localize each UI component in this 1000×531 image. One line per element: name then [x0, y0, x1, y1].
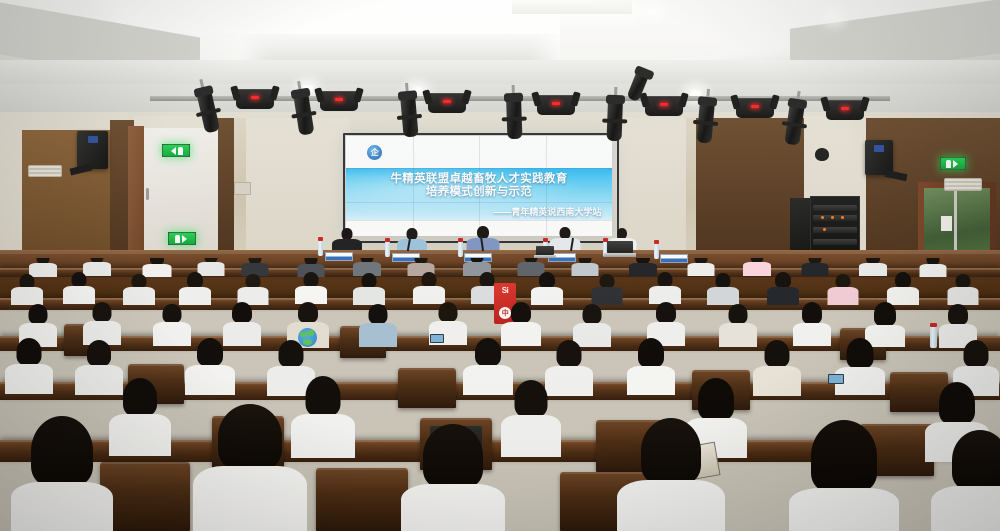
audience-hair [641, 418, 701, 484]
air-vent-right [944, 178, 982, 191]
logo-glyph: 企 [371, 149, 379, 157]
audience-torso [123, 287, 155, 305]
audience-hair [17, 338, 42, 365]
stage-spotlight [607, 99, 623, 141]
bottle-cap [930, 323, 937, 327]
panelist-laptop[interactable] [604, 241, 636, 257]
audience-hair [557, 340, 582, 367]
exit-person-icon [175, 235, 180, 243]
audience-member [706, 273, 740, 302]
audience-hair [874, 302, 896, 326]
laptop-keyboard [604, 253, 636, 257]
screen-panel-seam [413, 136, 414, 236]
audience-member [222, 302, 262, 342]
audience-hair [729, 304, 748, 324]
spotlight-hood [290, 88, 310, 100]
stage-light-fixture [236, 89, 274, 109]
rack-unit [813, 215, 857, 221]
audience-torso [617, 480, 725, 531]
ceiling-downlight [828, 12, 839, 19]
stage-light-fixture [736, 98, 774, 118]
exit-person-icon [178, 147, 183, 155]
audience-hair [304, 272, 319, 287]
stage-light-fixture [320, 91, 358, 111]
audience-torso [401, 484, 505, 531]
spotlight-hood [698, 96, 718, 107]
spotlight-hood [504, 93, 523, 103]
ceiling-beam [0, 60, 1000, 84]
audience-member [570, 258, 599, 274]
spotlight-hood [787, 98, 807, 110]
audience-hair [895, 272, 911, 288]
speaker-badge-icon [88, 136, 98, 143]
audience-hair [811, 420, 877, 492]
air-vent-left [28, 165, 62, 177]
exit-person-icon [946, 160, 951, 168]
audience-member [4, 338, 54, 390]
audience-hair [306, 376, 341, 416]
audience-member [412, 272, 446, 302]
spotlight-hood [398, 90, 418, 101]
audience-hair [163, 304, 182, 323]
audience-member [122, 274, 156, 302]
audience-member [62, 272, 96, 302]
audience-hair [955, 274, 970, 288]
ceiling-downlight [648, 6, 659, 13]
laptop-screen [607, 241, 633, 253]
fixture-indicator-led [251, 96, 259, 99]
audience-torso [859, 263, 887, 276]
audience-member-foreground [400, 424, 506, 531]
audience-torso [5, 364, 53, 394]
rack-status-led [841, 216, 844, 219]
audience-member-foreground [192, 404, 308, 531]
audience-hair [698, 378, 734, 420]
smartphone[interactable] [430, 334, 444, 343]
water-bottle[interactable] [385, 241, 390, 257]
audience-hair [656, 302, 676, 323]
audience-member [178, 272, 212, 302]
bottle-cap [458, 238, 463, 242]
audience-member [858, 258, 888, 274]
audience-hair [245, 274, 260, 288]
audience-hair [423, 424, 483, 488]
audience-torso [789, 488, 899, 531]
audience-torso [109, 414, 171, 456]
screen-panel-seam [479, 136, 480, 236]
stage-spotlight [506, 97, 522, 139]
audience-hair [835, 274, 850, 288]
audience-hair [802, 302, 822, 324]
water-bottle[interactable] [930, 326, 937, 348]
fixture-indicator-led [443, 100, 451, 103]
audience-hair [87, 340, 111, 366]
audience-hair [539, 272, 555, 288]
audience-hair [422, 272, 437, 287]
audience-member [800, 258, 829, 274]
wall-control-plate[interactable] [234, 182, 251, 195]
stage-light-fixture [428, 93, 466, 113]
audience-member [572, 304, 612, 342]
audience-hair [29, 304, 48, 324]
fixture-indicator-led [660, 103, 668, 106]
audience-torso [707, 287, 739, 305]
audience-hair [599, 274, 614, 288]
audience-hair [511, 302, 531, 323]
audience-member [626, 338, 676, 392]
audience-member-foreground [788, 420, 900, 531]
rack-unit [813, 205, 857, 211]
screen-panel-seam [346, 168, 612, 169]
audience-member [152, 304, 192, 342]
audience-member [792, 302, 832, 342]
globe-landmass [307, 330, 314, 336]
spotlight-yoke [602, 119, 627, 124]
smartphone[interactable] [828, 374, 844, 384]
side-laptop[interactable] [534, 246, 556, 258]
fixture-indicator-led [751, 105, 759, 108]
audience-chair [398, 368, 456, 408]
audience-hair [232, 302, 252, 323]
exit-sign-above-door-left [162, 144, 190, 157]
screen-panel-seam [346, 202, 612, 203]
audience-member [10, 274, 44, 302]
conference-hall-photo: 企 牛精英联盟卓越畜牧人才实践教育 培养模式创新与示范 ——青年精英说西南大学站 [0, 0, 1000, 531]
audience-hair [658, 272, 673, 287]
water-bottle[interactable] [458, 241, 463, 257]
audience-torso [591, 287, 622, 305]
red-bag-text: Si [502, 286, 509, 295]
audience-torso [753, 366, 801, 396]
audience-member [826, 274, 859, 302]
audience-member [82, 302, 122, 342]
exit-arrow-icon [182, 235, 187, 243]
audience-hair [187, 272, 203, 288]
audience-member [500, 302, 542, 342]
rack-status-led [821, 216, 824, 219]
stage-light-fixture [645, 96, 683, 116]
audience-area: Si 中 [0, 258, 1000, 531]
audience-torso [185, 365, 235, 395]
audience-member [766, 272, 800, 302]
glass-door-notice [941, 216, 952, 231]
spotlight-hood [606, 95, 625, 105]
audience-hair [964, 340, 989, 367]
rack-unit [813, 227, 857, 233]
audience-member [946, 274, 979, 302]
audience-member [500, 380, 562, 452]
audience-member-foreground [616, 418, 726, 531]
audience-torso [193, 466, 307, 531]
audience-member [646, 302, 686, 342]
door-leaf-left[interactable] [128, 126, 144, 268]
audience-torso [359, 323, 397, 347]
audience-member [886, 272, 920, 302]
wall-speaker-left [77, 131, 108, 169]
ceiling-chandelier [512, 0, 632, 14]
audience-hair [132, 274, 147, 288]
audience-member [530, 272, 564, 302]
fixture-indicator-led [335, 98, 343, 101]
audience-hair [218, 404, 282, 470]
audience-torso [353, 287, 385, 305]
audience-member [352, 258, 382, 274]
audience-member-foreground [10, 416, 114, 531]
security-camera-right [815, 148, 829, 161]
globe-landmass [300, 332, 307, 337]
audience-torso [801, 263, 828, 276]
audience-torso [931, 486, 1000, 531]
audience-torso [11, 482, 113, 531]
audience-member-globe-tee [286, 302, 330, 344]
bottle-cap [385, 238, 390, 242]
audience-member [938, 304, 978, 344]
audience-hair [362, 273, 377, 288]
exit-sign-doorway-left [168, 232, 196, 245]
stage-light-fixture [826, 100, 864, 120]
audience-hair [775, 272, 791, 288]
bottle-cap [654, 240, 659, 244]
audience-torso [501, 415, 561, 457]
door-handle-left[interactable] [146, 188, 149, 200]
audience-member [236, 274, 269, 302]
audience-hair [716, 273, 731, 288]
audience-member [240, 258, 269, 274]
audience-hair [279, 340, 304, 367]
screen-panel-seam [546, 136, 547, 236]
speaker-badge-icon [874, 145, 884, 152]
audience-hair [475, 338, 501, 366]
audience-hair [480, 272, 495, 287]
audience-member [108, 378, 172, 452]
audience-member [590, 274, 623, 302]
audience-member [28, 258, 58, 274]
audience-member [752, 340, 802, 392]
audience-member [358, 304, 398, 342]
audience-member [918, 258, 947, 274]
exit-arrow-icon [953, 160, 958, 168]
audience-member [718, 304, 758, 342]
audience-member [184, 338, 236, 392]
audience-hair [638, 338, 664, 367]
bottle-cap [318, 237, 323, 241]
led-video-wall: 企 牛精英联盟卓越畜牧人才实践教育 培养模式创新与示范 ——青年精英说西南大学站 [346, 136, 612, 236]
audience-hair [31, 416, 93, 486]
fixture-indicator-led [841, 107, 849, 110]
audience-torso [919, 264, 946, 277]
audience-torso [11, 287, 43, 305]
audience-member [18, 304, 58, 342]
audience-member [648, 272, 682, 302]
audience-hair [93, 302, 112, 322]
stage-light-fixture [537, 95, 575, 115]
audience-hair [583, 304, 602, 324]
audience-hair [515, 380, 548, 417]
audience-member [142, 258, 172, 274]
audience-member [686, 258, 715, 274]
audience-hair [298, 302, 318, 323]
rack-status-led [831, 216, 834, 219]
audience-hair [939, 382, 975, 424]
audience-hair [369, 304, 388, 324]
bottle-cap [543, 238, 548, 242]
audience-member [294, 272, 328, 302]
audience-hair [948, 304, 968, 325]
laptop-screen [536, 246, 554, 255]
audience-hair [765, 340, 790, 367]
audience-hair [72, 272, 87, 287]
audience-torso [627, 366, 675, 395]
audience-member-foreground [930, 430, 1000, 531]
screen-panel-seam [346, 220, 612, 221]
audience-torso [179, 287, 211, 305]
audience-torso [947, 287, 978, 305]
exit-arrow-icon [171, 147, 176, 155]
rack-status-led [823, 228, 826, 231]
fixture-indicator-led [552, 102, 560, 105]
screen-subtitle: ——青年精英说西南大学站 [493, 205, 601, 218]
audience-hair [847, 338, 874, 368]
water-bottle[interactable] [318, 240, 323, 256]
audience-chair [316, 468, 408, 531]
audience-member [352, 273, 386, 302]
audience-hair [439, 302, 458, 322]
rack-unit [813, 239, 857, 245]
audience-hair [123, 378, 157, 416]
audience-hair [952, 430, 1000, 490]
exit-sign-right [940, 157, 966, 170]
water-bottle[interactable] [654, 243, 659, 259]
audience-hair [197, 338, 223, 366]
